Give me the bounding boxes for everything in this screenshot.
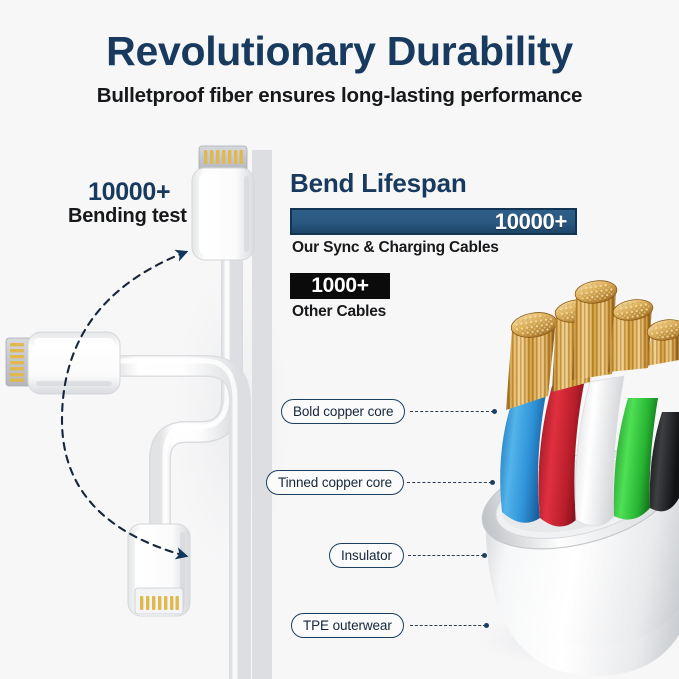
callout-tpe-outerwear: TPE outerwear	[291, 613, 404, 638]
bar-our-cables-caption: Our Sync & Charging Cables	[292, 239, 590, 257]
callout-insulator: Insulator	[329, 543, 404, 568]
bar-other-cables: 1000+	[290, 273, 390, 299]
bend-lifespan-panel: Bend Lifespan 10000+ Our Sync & Charging…	[290, 168, 590, 337]
callout-bold-copper-core: Bold copper core	[281, 399, 405, 424]
cable-cross-section	[472, 278, 679, 676]
bend-lifespan-heading: Bend Lifespan	[290, 168, 590, 199]
page-subtitle: Bulletproof fiber ensures long-lasting p…	[0, 84, 679, 108]
bending-test-label: Bending test	[68, 205, 187, 228]
leader-dot-bold-copper-core	[492, 409, 497, 414]
leader-dot-insulator	[482, 553, 487, 558]
bar-other-cables-caption: Other Cables	[292, 303, 590, 321]
leader-dot-tpe-outerwear	[484, 623, 489, 628]
leader-line-tpe-outerwear	[410, 625, 486, 626]
dashed-bend-arc	[62, 252, 186, 556]
lightning-connector-left	[6, 332, 120, 394]
lightning-connector-bottom	[128, 524, 190, 616]
lightning-connector-top	[192, 146, 254, 260]
leader-line-tinned-copper-core	[407, 482, 492, 483]
bending-test-count: 10000+	[88, 178, 170, 207]
cable-illustration-left	[116, 150, 290, 679]
page-title: Revolutionary Durability	[0, 30, 679, 73]
leader-dot-tinned-copper-core	[490, 480, 495, 485]
bar-our-cables: 10000+	[290, 208, 577, 235]
leader-line-bold-copper-core	[410, 411, 494, 412]
leader-line-insulator	[408, 555, 484, 556]
bar-other-cables-value: 1000+	[292, 274, 388, 298]
callout-tinned-copper-core: Tinned copper core	[266, 470, 404, 495]
bar-our-cables-value: 10000+	[495, 209, 575, 235]
infographic-canvas: Revolutionary Durability Bulletproof fib…	[0, 0, 679, 679]
